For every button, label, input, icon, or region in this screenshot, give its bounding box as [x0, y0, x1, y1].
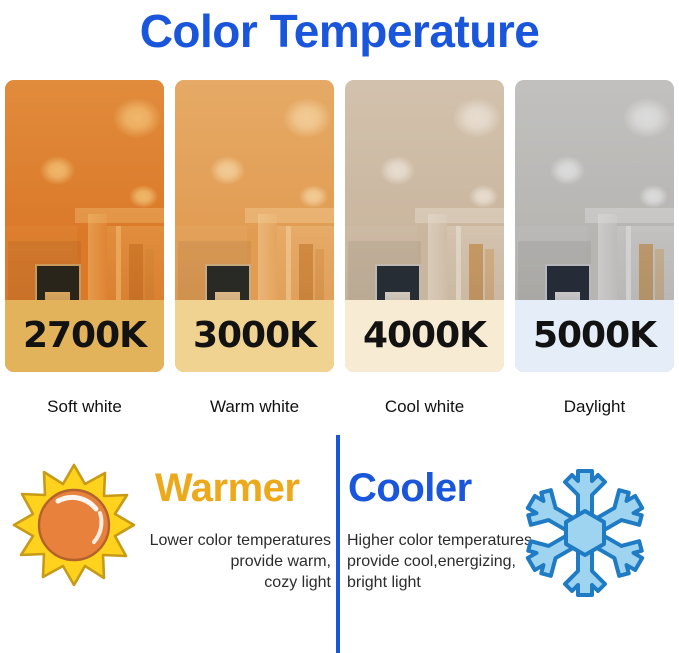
- panel-3000k: 3000K: [175, 80, 334, 372]
- warmer-section: Warmer Lower color temperatures provide …: [0, 435, 336, 653]
- kelvin-label: 5000K: [533, 318, 656, 354]
- cooler-heading: Cooler: [348, 464, 472, 512]
- kelvin-label: 4000K: [363, 318, 486, 354]
- color-temperature-panel-row: 2700K 3000K 4000K: [5, 80, 675, 375]
- panel-caption-row: Soft white Warm white Cool white Dayligh…: [5, 393, 675, 425]
- panel-4000k: 4000K: [345, 80, 504, 372]
- kelvin-label: 2700K: [23, 318, 146, 354]
- kelvin-band-5000k: 5000K: [515, 300, 674, 372]
- snowflake-icon: [515, 463, 655, 603]
- kelvin-band-4000k: 4000K: [345, 300, 504, 372]
- caption-soft-white: Soft white: [5, 393, 164, 425]
- caption-warm-white: Warm white: [175, 393, 334, 425]
- caption-daylight: Daylight: [515, 393, 674, 425]
- panel-2700k: 2700K: [5, 80, 164, 372]
- caption-cool-white: Cool white: [345, 393, 504, 425]
- kelvin-band-2700k: 2700K: [5, 300, 164, 372]
- cooler-section: Cooler Higher color temperatures provide…: [343, 435, 679, 653]
- kelvin-band-3000k: 3000K: [175, 300, 334, 372]
- sun-icon: [6, 457, 142, 593]
- vertical-divider: [336, 435, 340, 653]
- page-title: Color Temperature: [0, 2, 679, 60]
- warmer-heading: Warmer: [155, 464, 299, 512]
- kelvin-label: 3000K: [193, 318, 316, 354]
- warmer-description: Lower color temperatures provide warm, c…: [126, 530, 331, 593]
- panel-5000k: 5000K: [515, 80, 674, 372]
